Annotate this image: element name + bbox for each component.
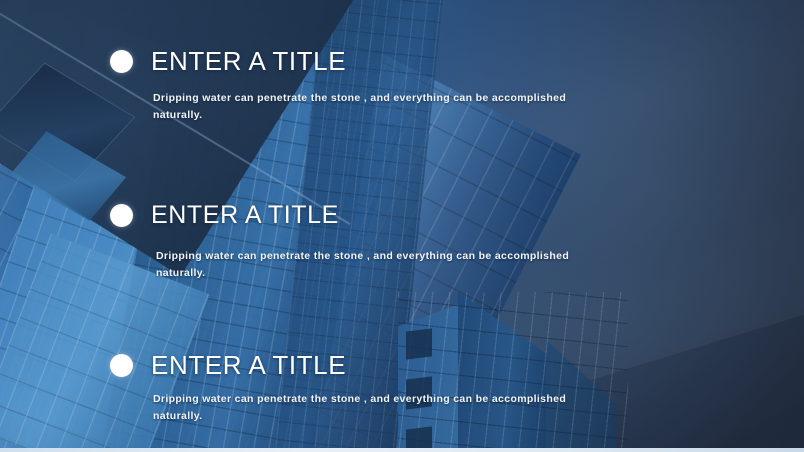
block-2-body-text: Dripping water can penetrate the stone ,…	[0, 248, 586, 282]
block-2-heading-row: ENTER A TITLE	[0, 198, 804, 232]
filled-circle-bullet-icon	[110, 204, 133, 227]
filled-circle-bullet-icon	[110, 50, 133, 73]
content-blocks: ENTER A TITLE Dripping water can penetra…	[0, 0, 804, 452]
block-3-title: ENTER A TITLE	[151, 350, 346, 380]
block-1-title: ENTER A TITLE	[151, 46, 346, 76]
block-1-body-text: Dripping water can penetrate the stone ,…	[0, 90, 583, 124]
block-2-title: ENTER A TITLE	[151, 200, 339, 230]
block-1-heading-row: ENTER A TITLE	[0, 44, 804, 78]
content-block-3: ENTER A TITLE Dripping water can penetra…	[0, 348, 804, 425]
block-3-body-text: Dripping water can penetrate the stone ,…	[0, 391, 583, 425]
block-3-heading-row: ENTER A TITLE	[0, 348, 804, 382]
filled-circle-bullet-icon	[110, 354, 133, 377]
content-block-2: ENTER A TITLE Dripping water can penetra…	[0, 198, 804, 282]
content-block-1: ENTER A TITLE Dripping water can penetra…	[0, 44, 804, 124]
presentation-slide: ENTER A TITLE Dripping water can penetra…	[0, 0, 804, 452]
